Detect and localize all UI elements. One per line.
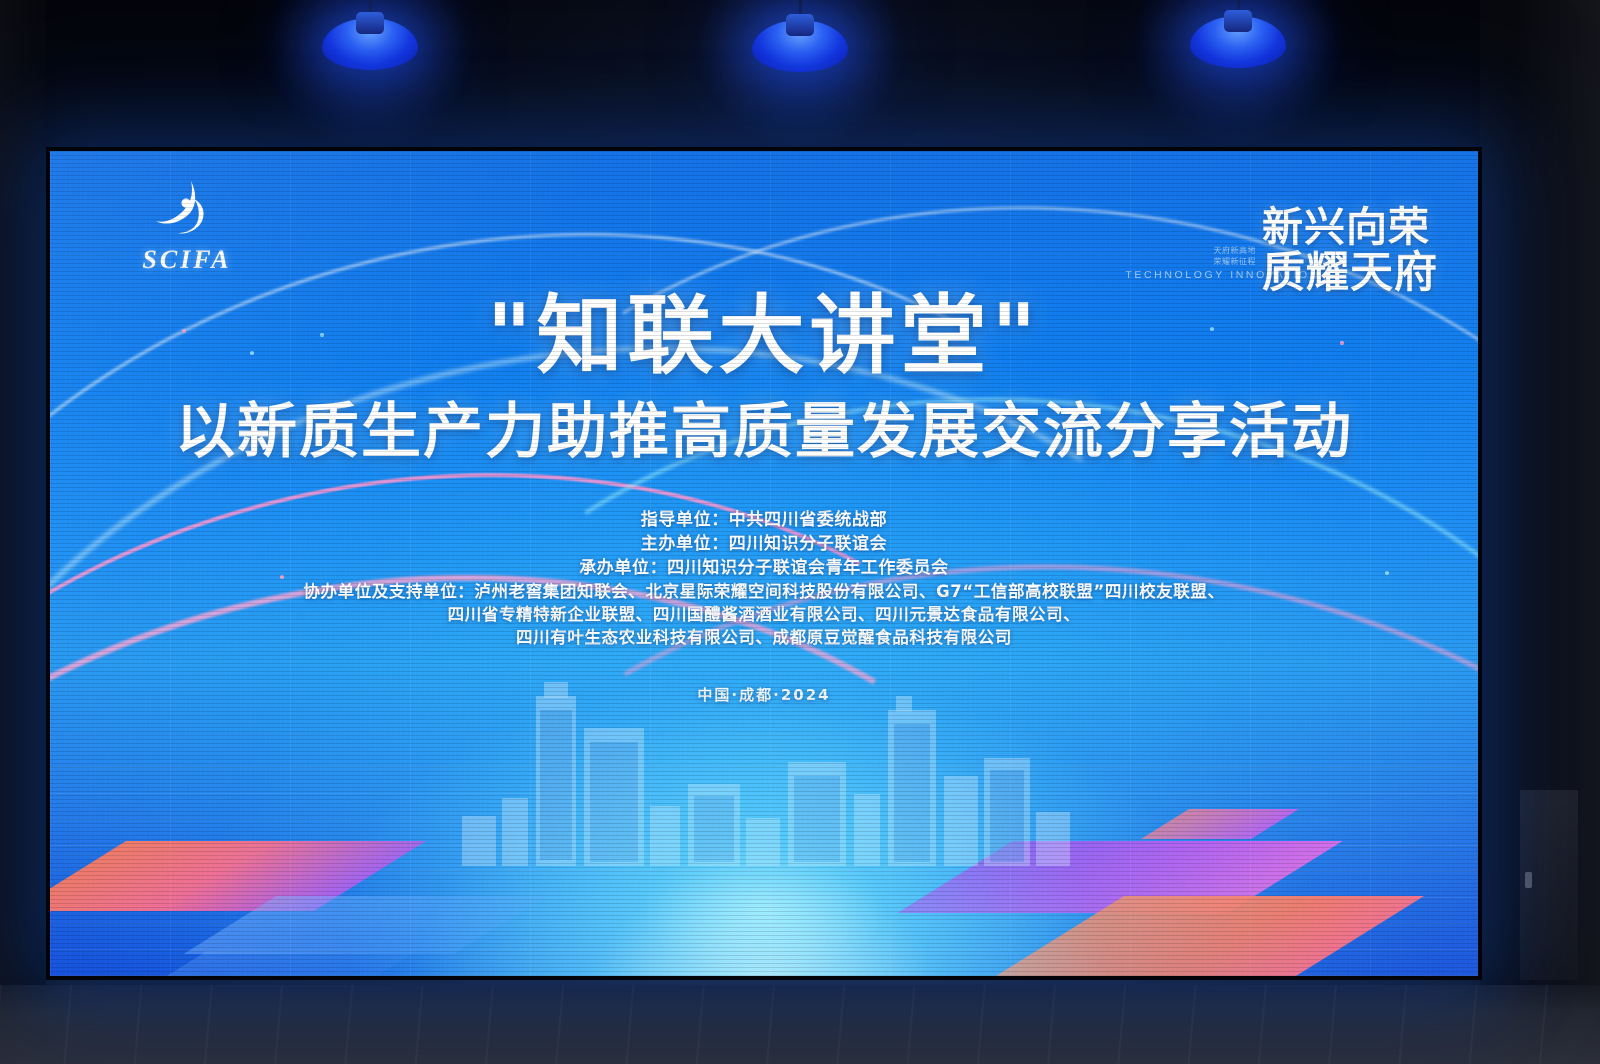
location-date: 中国·成都·2024 [50,684,1478,705]
lamp-cap [786,14,814,36]
organization-line: 四川省专精特新企业联盟、四川国醴酱酒酒业有限公司、四川元景达食品有限公司、 [50,603,1478,626]
ceiling-lamp [322,8,418,70]
slogan-small-cn-line-1: 天府新高地 [1214,245,1257,256]
slogan-small-cn-line-2: 荣耀新征程 [1214,256,1257,267]
organization-line: 主办单位：四川知识分子联谊会 [50,532,1478,556]
wall-left [0,0,46,1000]
slogan-line-2: 质耀天府 [1262,238,1438,300]
lamp-cap [1224,10,1252,32]
door-handle-icon [1525,872,1532,888]
campaign-slogan-logo: 新兴向荣 天府新高地 荣耀新征程 TECHNOLOGY INNOVATION 质… [1118,193,1438,303]
led-screen: SCIFA 新兴向荣 天府新高地 荣耀新征程 TECHNOLOGY INNOVA… [50,151,1478,976]
ceiling-lamp [1190,6,1286,68]
lamp-cap [356,12,384,34]
led-screen-frame: SCIFA 新兴向荣 天府新高地 荣耀新征程 TECHNOLOGY INNOVA… [46,147,1482,980]
stage-floor [0,985,1600,1064]
scifa-wordmark: SCIFA [112,245,262,275]
scifa-logo: SCIFA [112,179,262,275]
scifa-swoosh-icon [150,179,224,243]
organization-line: 承办单位：四川知识分子联谊会青年工作委员会 [50,556,1478,580]
ceiling-lamp [752,10,848,72]
auditorium-stage: SCIFA 新兴向荣 天府新高地 荣耀新征程 TECHNOLOGY INNOVA… [0,0,1600,1064]
organization-line: 四川有叶生态农业科技有限公司、成都原豆觉醒食品科技有限公司 [50,626,1478,649]
organization-line: 指导单位：中共四川省委统战部 [50,508,1478,532]
organization-line: 协办单位及支持单位：泸州老窖集团知联会、北京星际荣耀空间科技股份有限公司、G7“… [50,580,1478,603]
slogan-small-cn: 天府新高地 荣耀新征程 [1214,245,1257,267]
organization-list: 指导单位：中共四川省委统战部 主办单位：四川知识分子联谊会 承办单位：四川知识分… [50,508,1478,649]
event-title: "知联大讲堂" [50,293,1478,379]
event-subtitle: 以新质生产力助推高质量发展交流分享活动 [50,401,1478,465]
screen-content: SCIFA 新兴向荣 天府新高地 荣耀新征程 TECHNOLOGY INNOVA… [50,151,1478,976]
